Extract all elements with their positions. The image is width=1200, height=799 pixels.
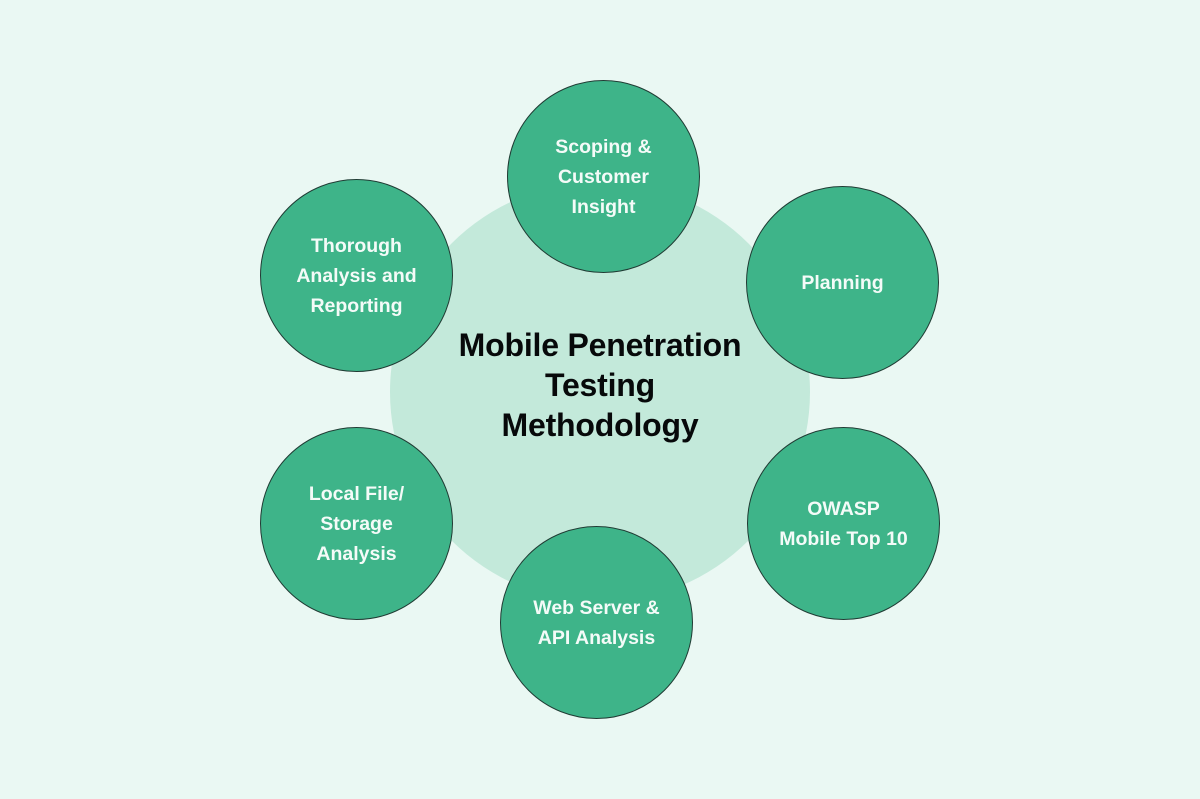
node-label: Web Server & API Analysis bbox=[523, 593, 669, 653]
node-thorough-analysis-reporting[interactable]: Thorough Analysis and Reporting bbox=[260, 179, 453, 372]
node-planning[interactable]: Planning bbox=[746, 186, 939, 379]
node-local-file-storage-analysis[interactable]: Local File/ Storage Analysis bbox=[260, 427, 453, 620]
node-label: OWASP Mobile Top 10 bbox=[769, 494, 918, 554]
node-label: Scoping & Customer Insight bbox=[545, 132, 661, 222]
methodology-diagram: Mobile Penetration Testing Methodology S… bbox=[0, 0, 1200, 799]
node-label: Planning bbox=[791, 268, 893, 298]
node-scoping-customer-insight[interactable]: Scoping & Customer Insight bbox=[507, 80, 700, 273]
node-owasp-mobile-top-10[interactable]: OWASP Mobile Top 10 bbox=[747, 427, 940, 620]
node-web-server-api-analysis[interactable]: Web Server & API Analysis bbox=[500, 526, 693, 719]
node-label: Thorough Analysis and Reporting bbox=[286, 231, 426, 321]
diagram-center-title: Mobile Penetration Testing Methodology bbox=[400, 325, 800, 445]
node-label: Local File/ Storage Analysis bbox=[299, 479, 414, 569]
